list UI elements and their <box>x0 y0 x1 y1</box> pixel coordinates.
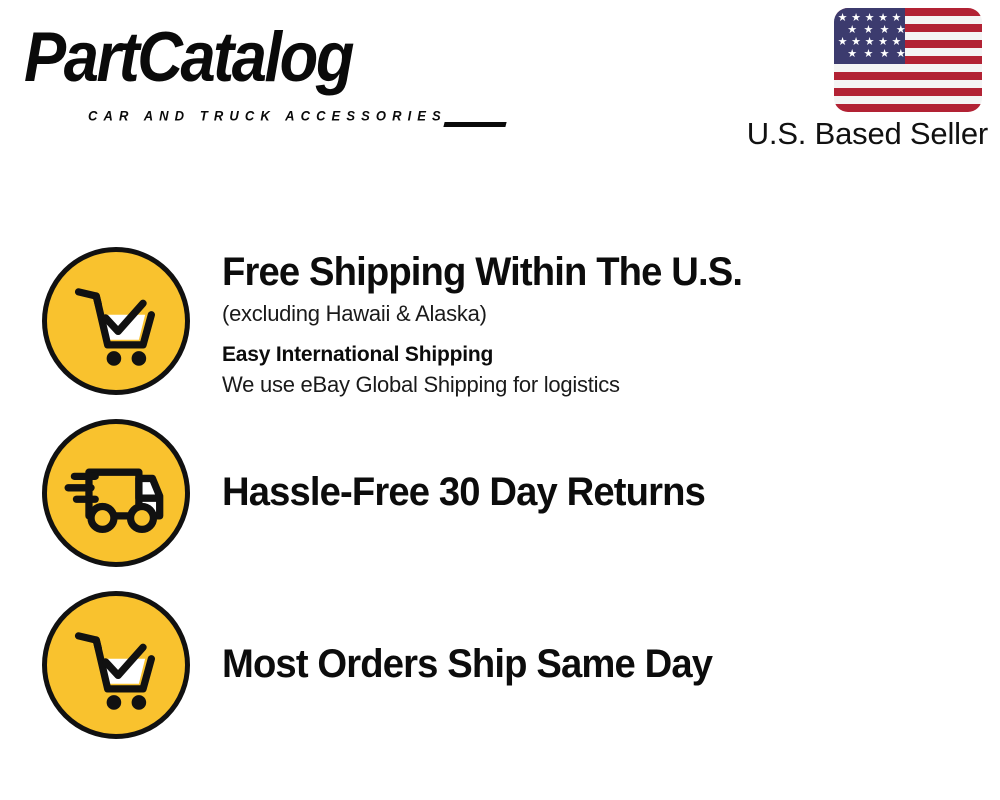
feature-text-block: Most Orders Ship Same Day <box>222 591 1000 687</box>
feature-row: Free Shipping Within The U.S. (excluding… <box>0 247 1000 400</box>
flag-star: ★ <box>880 25 890 36</box>
flag-star: ★ <box>865 13 875 24</box>
shopping-cart-check-icon <box>42 591 190 739</box>
feature-text-block: Free Shipping Within The U.S. (excluding… <box>222 247 1000 400</box>
feature-subtext-light: We use eBay Global Shipping for logistic… <box>222 370 1000 400</box>
feature-subtext: (excluding Hawaii & Alaska) <box>222 299 1000 329</box>
flag-star: ★ <box>865 37 875 48</box>
flag-star: ★ <box>892 37 902 48</box>
flag-star: ★ <box>847 49 857 60</box>
flag-star: ★ <box>880 49 890 60</box>
flag-star: ★ <box>878 37 888 48</box>
flag-star-row: ★ ★ ★ ★ <box>834 25 919 36</box>
feature-text-block: Hassle-Free 30 Day Returns <box>222 419 1000 515</box>
feature-heading: Free Shipping Within The U.S. <box>222 249 965 295</box>
flag-star: ★ <box>896 49 906 60</box>
us-flag-icon: ★ ★ ★ ★ ★ ★ ★ ★ ★ ★ ★ ★ <box>834 8 982 112</box>
flag-star: ★ <box>896 25 906 36</box>
banner-header: PartCatalog CAR AND TRUCK ACCESSORIES <box>0 0 1000 175</box>
flag-canton: ★ ★ ★ ★ ★ ★ ★ ★ ★ ★ ★ ★ <box>834 8 905 64</box>
flag-star: ★ <box>838 37 848 48</box>
flag-star: ★ <box>838 13 848 24</box>
feature-heading: Most Orders Ship Same Day <box>222 641 965 687</box>
flag-star-row: ★ ★ ★ ★ ★ <box>834 37 905 48</box>
brand-tagline: CAR AND TRUCK ACCESSORIES <box>88 108 447 124</box>
brand-wordmark: PartCatalog <box>24 22 503 94</box>
feature-row: Hassle-Free 30 Day Returns <box>0 419 1000 567</box>
flag-star: ★ <box>863 49 873 60</box>
brand-underline-swoosh <box>443 122 506 127</box>
flag-star: ★ <box>847 25 857 36</box>
flag-star-row: ★ ★ ★ ★ ★ <box>834 13 905 24</box>
flag-star: ★ <box>851 37 861 48</box>
promo-banner: PartCatalog CAR AND TRUCK ACCESSORIES <box>0 0 1000 800</box>
flag-star-row: ★ ★ ★ ★ <box>834 49 919 60</box>
feature-subheading-bold: Easy International Shipping <box>222 341 1000 369</box>
feature-row: Most Orders Ship Same Day <box>0 591 1000 739</box>
us-based-seller-label: U.S. Based Seller <box>747 116 988 152</box>
flag-star: ★ <box>892 13 902 24</box>
brand-logo[interactable]: PartCatalog CAR AND TRUCK ACCESSORIES <box>24 22 494 114</box>
flag-star: ★ <box>878 13 888 24</box>
flag-star: ★ <box>851 13 861 24</box>
us-based-seller-badge: ★ ★ ★ ★ ★ ★ ★ ★ ★ ★ ★ ★ <box>716 8 988 152</box>
feature-heading: Hassle-Free 30 Day Returns <box>222 469 965 515</box>
delivery-truck-icon <box>42 419 190 567</box>
flag-star: ★ <box>863 25 873 36</box>
shopping-cart-check-icon <box>42 247 190 395</box>
